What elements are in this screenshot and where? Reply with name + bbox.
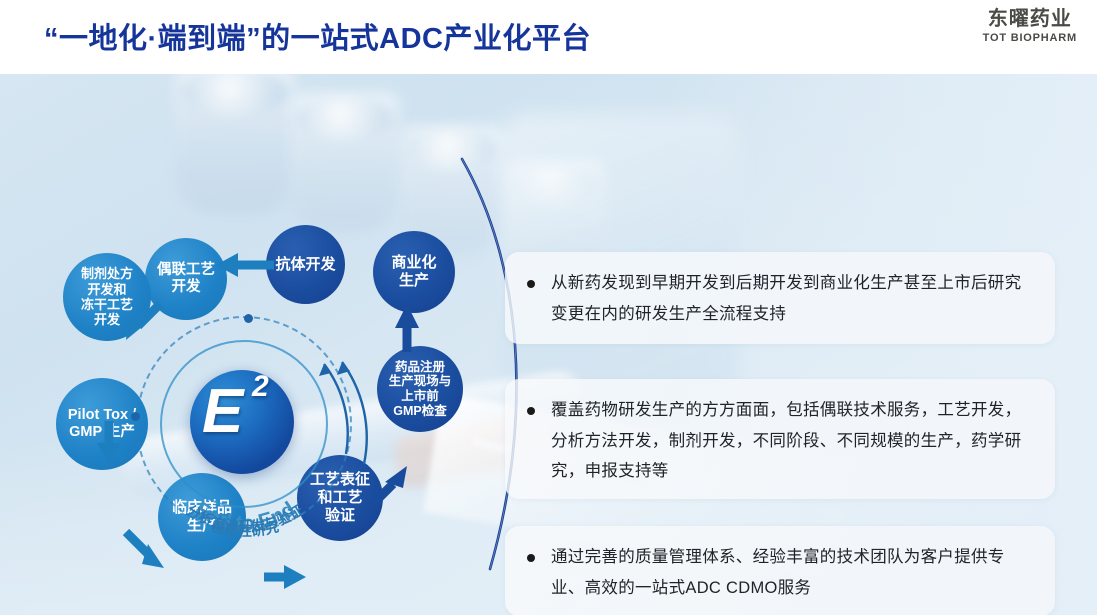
node-label-antibody: 抗体开发 <box>271 256 339 274</box>
info-panel-1-text: 从新药发现到早期开发到后期开发到商业化生产甚至上市后研究变更在内的研发生产全流程… <box>551 268 1033 329</box>
info-panel-2: 覆盖药物研发生产的方方面面，包括偶联技术服务，工艺开发，分析方法开发，制剂开发，… <box>505 379 1055 499</box>
arrow-registration-to-commercial <box>392 302 422 354</box>
logo-chinese-name: 东曜药业 <box>983 8 1077 30</box>
arrow-pilot-to-clinical <box>118 526 174 576</box>
node-label-conjugation: 偶联工艺开发 <box>153 262 219 296</box>
arrow-antibody-to-conjugation <box>214 250 278 280</box>
info-panel-1: 从新药发现到早期开发到后期开发到商业化生产甚至上市后研究变更在内的研发生产全流程… <box>505 252 1055 344</box>
e2-core-sphere: E 2 <box>190 370 294 474</box>
arrow-conjugation-to-formulation <box>118 294 172 348</box>
arrow-clinical-to-process <box>262 562 308 592</box>
info-panel-3: 通过完善的质量管理体系、经验丰富的技术团队为客户提供专业、高效的一站式ADC C… <box>505 526 1055 615</box>
info-panel-2-text: 覆盖药物研发生产的方方面面，包括偶联技术服务，工艺开发，分析方法开发，制剂开发，… <box>551 395 1033 487</box>
arrow-process-to-registration <box>365 458 411 510</box>
slide-header: “一地化·端到端”的一站式ADC产业化平台 东曜药业 TOT BIOPHARM <box>0 0 1097 74</box>
slide-root: “一地化·端到端”的一站式ADC产业化平台 东曜药业 TOT BIOPHARM <box>0 0 1097 615</box>
slide-body: E 2 End to End 分析方法开发与验证 稳定性研究 <box>0 74 1097 615</box>
e2-letter: E <box>202 376 243 447</box>
page-title: “一地化·端到端”的一站式ADC产业化平台 <box>44 15 591 57</box>
company-logo: 东曜药业 TOT BIOPHARM <box>983 8 1077 44</box>
bullet-dot-icon <box>527 407 535 415</box>
info-panel-3-text: 通过完善的质量管理体系、经验丰富的技术团队为客户提供专业、高效的一站式ADC C… <box>551 542 1033 603</box>
bullet-dot-icon <box>527 554 535 562</box>
bullet-dot-icon <box>527 280 535 288</box>
e2-superscript: 2 <box>252 370 269 404</box>
logo-english-name: TOT BIOPHARM <box>983 32 1077 44</box>
section-divider-curve <box>430 154 560 574</box>
arrow-formulation-to-pilot <box>94 419 124 465</box>
